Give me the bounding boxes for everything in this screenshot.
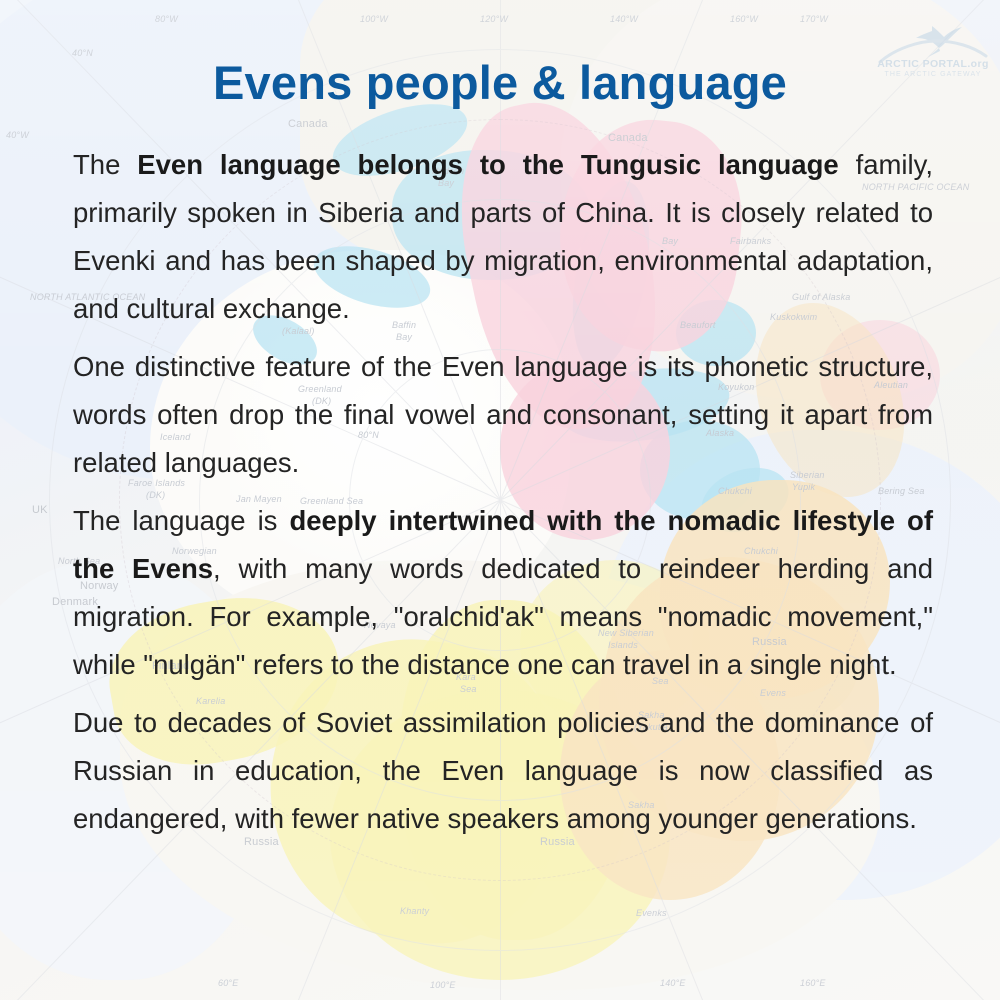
text-run: One distinctive feature of the Even lang… (73, 351, 933, 478)
arctic-portal-logo[interactable]: ARCTIC PORTAL.org THE ARCTIC GATEWAY (874, 22, 992, 84)
paragraph-p4: Due to decades of Soviet assimilation po… (73, 699, 933, 843)
content-layer: Evens people & language The Even languag… (0, 0, 1000, 1000)
text-run: The language is (73, 505, 289, 536)
paragraph-p1: The Even language belongs to the Tungusi… (73, 141, 933, 333)
emphasis-run: Even language belongs to the Tungusic la… (137, 149, 838, 180)
infographic-page: 80°W100°W120°W140°W160°W170°W40°NCanadaC… (0, 0, 1000, 1000)
paragraph-p2: One distinctive feature of the Even lang… (73, 343, 933, 487)
article-body: The Even language belongs to the Tungusi… (73, 141, 933, 843)
text-run: The (73, 149, 137, 180)
page-title: Evens people & language (0, 58, 1000, 107)
logo-tagline: THE ARCTIC GATEWAY (874, 71, 992, 78)
paragraph-p3: The language is deeply intertwined with … (73, 497, 933, 689)
logo-name: ARCTIC PORTAL.org (874, 58, 992, 70)
text-run: Due to decades of Soviet assimilation po… (73, 707, 933, 834)
